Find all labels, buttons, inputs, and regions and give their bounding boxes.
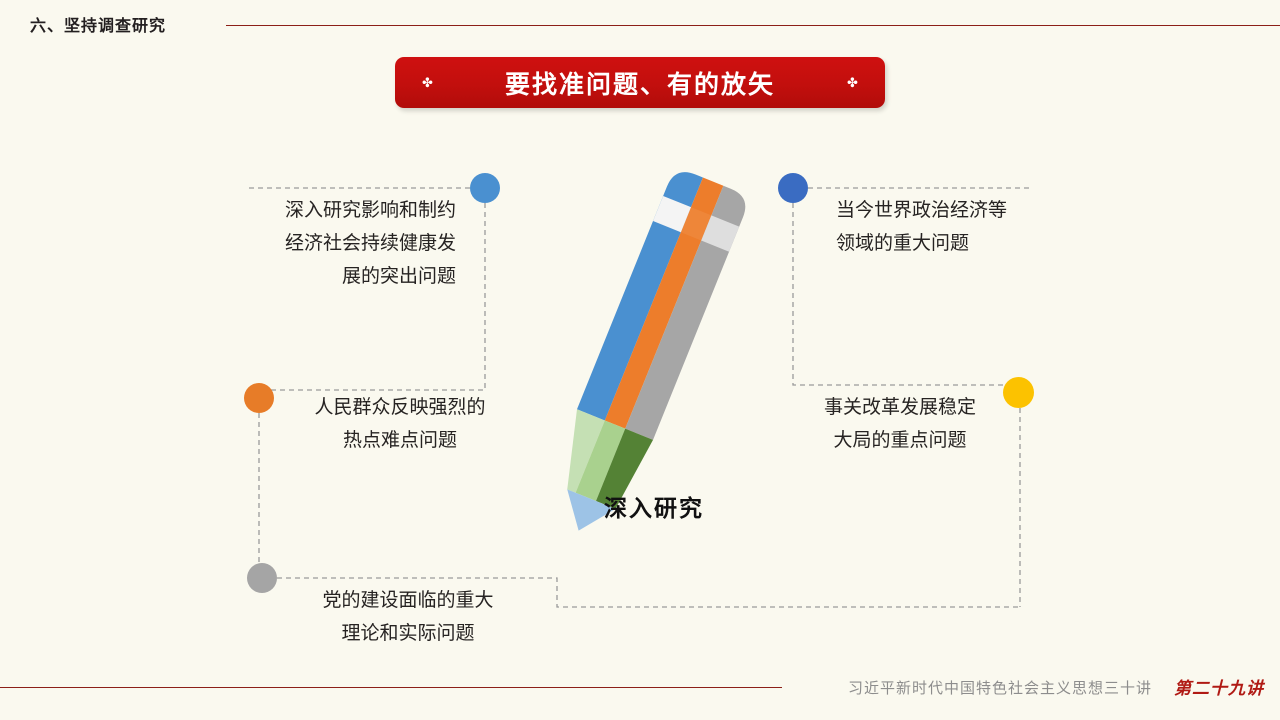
pencil-icon (520, 150, 770, 540)
node-text-line: 人民群众反映强烈的 (290, 391, 510, 424)
node-text-bottom-left: 党的建设面临的重大 理论和实际问题 (298, 584, 518, 650)
node-text-mid-left: 人民群众反映强烈的 热点难点问题 (290, 391, 510, 457)
node-text-top-right: 当今世界政治经济等 领域的重大问题 (836, 194, 1062, 260)
page-footer: 习近平新时代中国特色社会主义思想三十讲 第二十九讲 (0, 664, 1280, 720)
node-dot-mid-left[interactable] (244, 383, 274, 413)
pencil-label: 深入研究 (604, 489, 704, 523)
footer-lecture-number: 第二十九讲 (1174, 674, 1264, 699)
node-text-line: 当今世界政治经济等 (836, 194, 1062, 227)
node-text-line: 领域的重大问题 (836, 227, 1062, 260)
node-text-line: 理论和实际问题 (298, 617, 518, 650)
node-text-line: 党的建设面临的重大 (298, 584, 518, 617)
node-text-line: 展的突出问题 (224, 260, 456, 293)
node-text-line: 事关改革发展稳定 (800, 391, 1000, 424)
node-text-line: 大局的重点问题 (800, 424, 1000, 457)
node-text-line: 热点难点问题 (290, 424, 510, 457)
node-text-line: 经济社会持续健康发 (224, 227, 456, 260)
node-dot-top-right[interactable] (778, 173, 808, 203)
node-dot-mid-right[interactable] (1003, 377, 1034, 408)
footer-divider (0, 687, 782, 688)
node-text-mid-right: 事关改革发展稳定 大局的重点问题 (800, 391, 1000, 457)
node-dot-bottom-left[interactable] (247, 563, 277, 593)
node-text-line: 深入研究影响和制约 (224, 194, 456, 227)
node-dot-top-left[interactable] (470, 173, 500, 203)
node-text-top-left: 深入研究影响和制约 经济社会持续健康发 展的突出问题 (224, 194, 456, 293)
footer-series-title: 习近平新时代中国特色社会主义思想三十讲 (848, 677, 1152, 698)
